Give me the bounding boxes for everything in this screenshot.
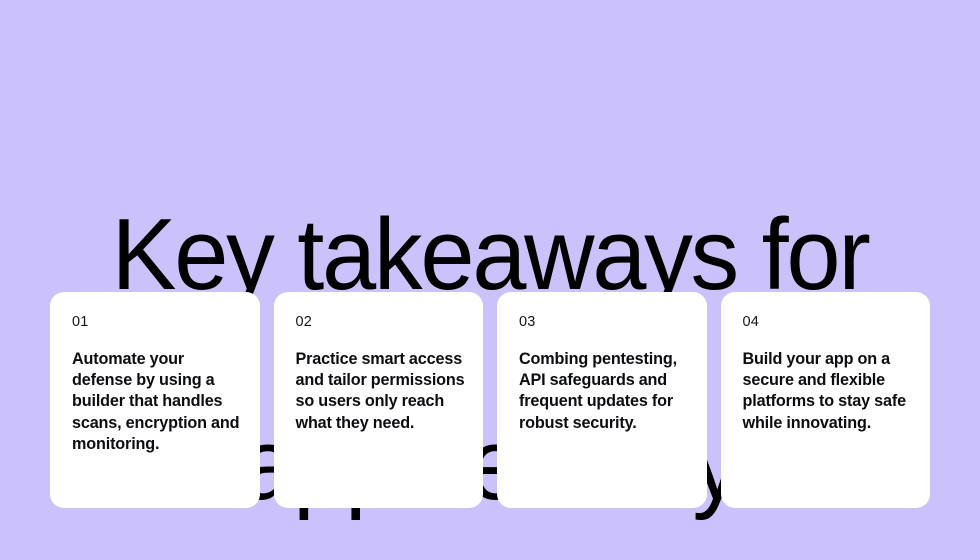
card-body-text: Combing pentesting, API safeguards and f…: [519, 349, 691, 434]
takeaway-card-04: 04 Build your app on a secure and flexib…: [721, 292, 931, 508]
card-number-label: 04: [743, 314, 915, 330]
card-body-text: Build your app on a secure and flexible …: [743, 349, 915, 434]
slide-canvas: Key takeaways for app security 01 Automa…: [0, 0, 980, 560]
card-number-label: 02: [296, 314, 468, 330]
takeaway-card-02: 02 Practice smart access and tailor perm…: [274, 292, 484, 508]
card-body-text: Practice smart access and tailor permiss…: [296, 349, 468, 434]
takeaway-card-03: 03 Combing pentesting, API safeguards an…: [497, 292, 707, 508]
card-body-text: Automate your defense by using a builder…: [72, 349, 244, 455]
takeaway-card-01: 01 Automate your defense by using a buil…: [50, 292, 260, 508]
takeaway-card-row: 01 Automate your defense by using a buil…: [50, 292, 930, 508]
card-number-label: 03: [519, 314, 691, 330]
card-number-label: 01: [72, 314, 244, 330]
